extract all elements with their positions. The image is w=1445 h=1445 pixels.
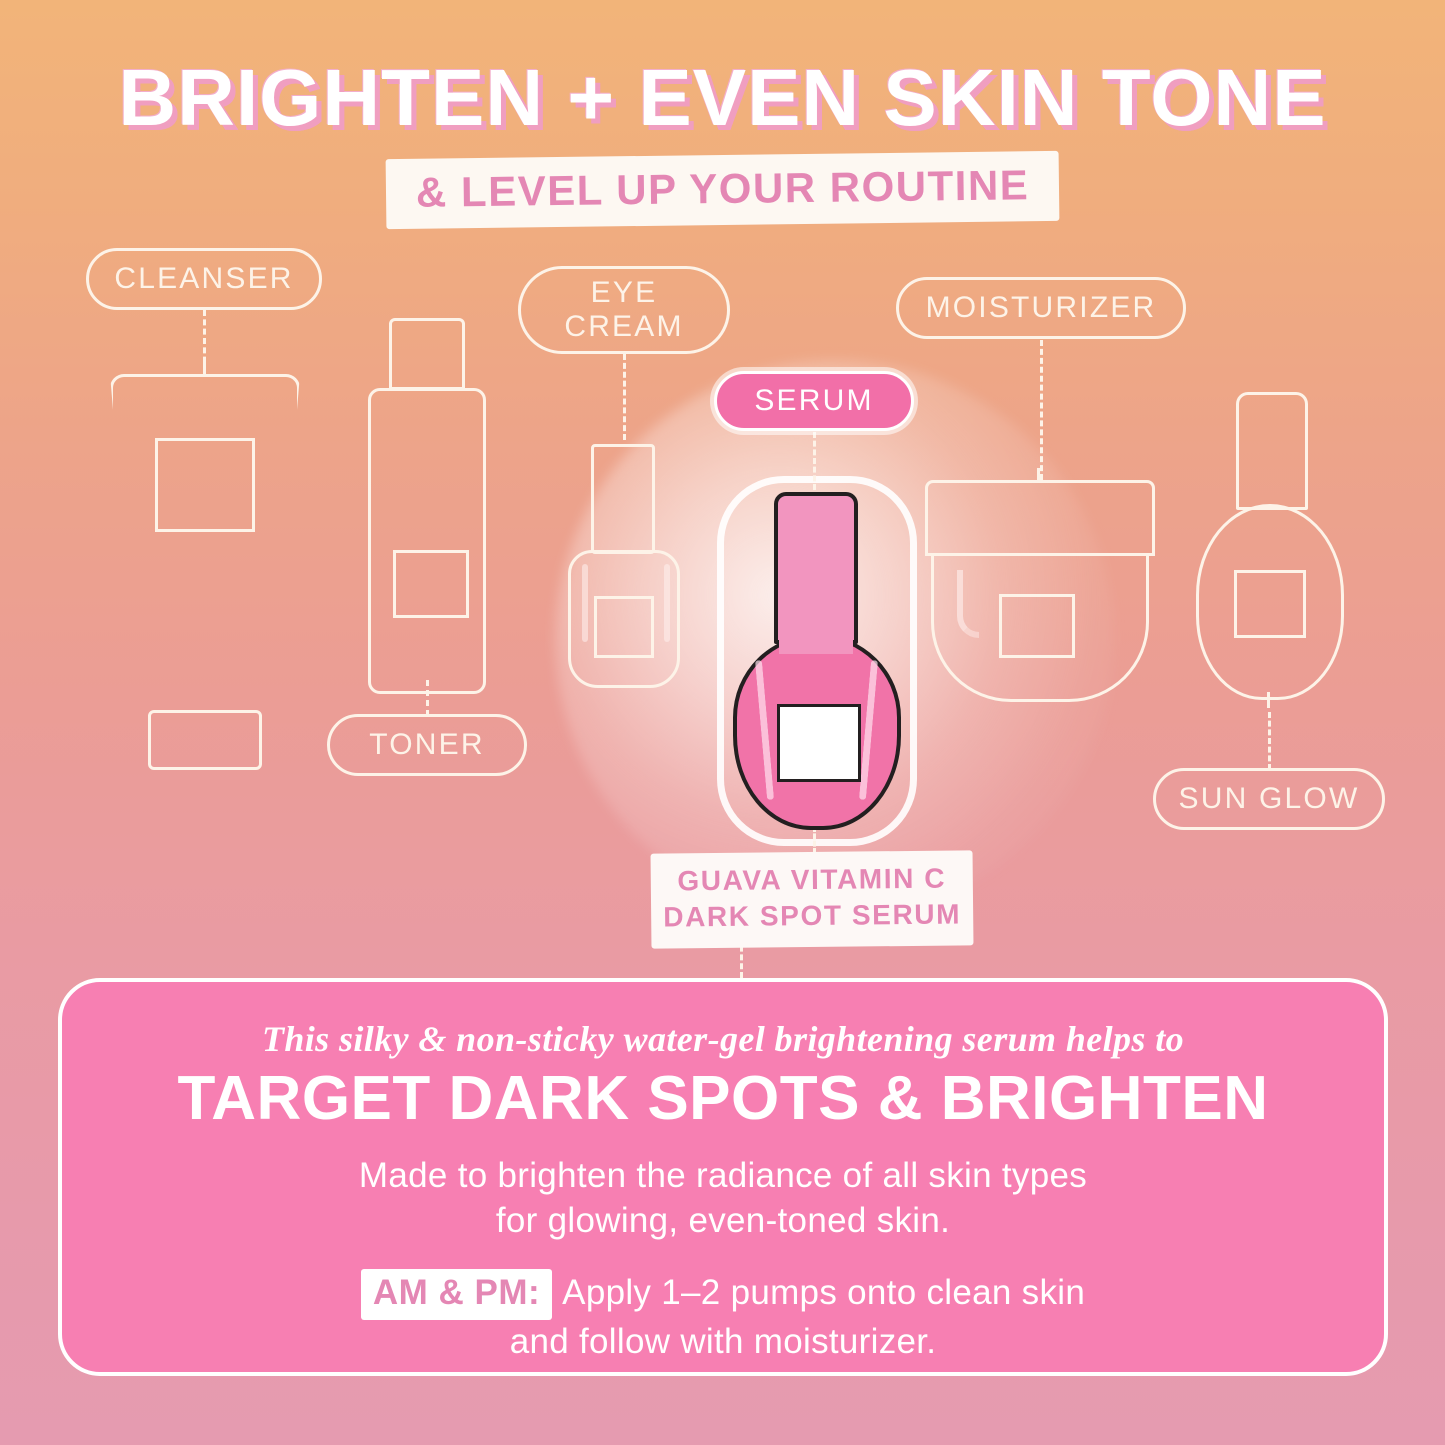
product-label-moisturizer[interactable]: MOISTURIZER [896,277,1186,339]
sun-glow-cap [1236,392,1308,510]
product-illustration-eye-cream [568,444,680,688]
eye-cream-shine-right [664,564,670,642]
product-label-eye-cream-line1: EYE [591,276,658,310]
card-tagline: This silky & non-sticky water-gel bright… [62,1018,1384,1060]
product-label-cleanser[interactable]: CLEANSER [86,248,322,310]
moisturizer-shine [957,570,979,638]
connector-hero-top [813,826,816,854]
eye-cream-shine-left [582,564,588,642]
toner-label-square [393,550,469,618]
product-illustration-cleanser [110,374,300,774]
connector-toner [426,680,429,716]
product-info-card: This silky & non-sticky water-gel bright… [58,978,1388,1376]
hero-product-name-line1: GUAVA VITAMIN C [659,860,965,900]
connector-serum [813,432,816,490]
product-label-eye-cream-line2: CREAM [564,310,683,344]
connector-eye-cream [623,354,626,440]
connector-sun-glow [1268,712,1271,770]
cleanser-cap [148,710,262,770]
card-description-line2: for glowing, even-toned skin. [62,1199,1384,1244]
sun-glow-label-square [1234,570,1306,638]
toner-body [368,388,486,694]
eye-cream-label-square [594,596,654,658]
cleanser-tube-body [110,374,300,714]
usage-time-tag: AM & PM: [361,1269,552,1320]
product-label-serum[interactable]: SERUM [714,371,914,431]
product-illustration-serum-hero [733,492,901,830]
subtitle-banner: & LEVEL UP YOUR ROUTINE [385,151,1059,229]
subtitle-container: & LEVEL UP YOUR ROUTINE [0,155,1445,225]
moisturizer-lid [925,480,1155,556]
connector-cleanser [203,310,206,372]
product-label-toner[interactable]: TONER [327,714,527,776]
hero-product-name-banner: GUAVA VITAMIN C DARK SPOT SERUM [651,850,974,948]
product-label-eye-cream[interactable]: EYE CREAM [518,266,730,354]
serum-bottle-cap [774,492,858,644]
product-illustration-moisturizer [925,480,1155,702]
connector-moisturizer [1040,340,1043,480]
moisturizer-label-square [999,594,1075,658]
toner-cap [389,318,465,390]
product-label-sun-glow[interactable]: SUN GLOW [1153,768,1385,830]
sun-glow-nub [1267,692,1270,708]
product-label-toner-text: TONER [369,728,484,762]
hero-product-name-line2: DARK SPOT SERUM [659,897,965,937]
product-label-sun-glow-text: SUN GLOW [1179,782,1360,816]
product-illustration-sun-glow [1196,392,1344,702]
cleanser-label-square [155,438,255,532]
serum-bottle-neck [779,632,853,654]
product-label-serum-text: SERUM [754,384,873,418]
card-heading: TARGET DARK SPOTS & BRIGHTEN [62,1066,1384,1132]
card-usage-line1-container: AM & PM:Apply 1–2 pumps onto clean skin [62,1269,1384,1320]
product-label-moisturizer-text: MOISTURIZER [926,291,1157,325]
serum-bottle-label [777,704,861,782]
product-illustration-toner [368,318,486,698]
card-usage-line1: Apply 1–2 pumps onto clean skin [562,1273,1085,1312]
card-description-line1: Made to brighten the radiance of all ski… [62,1154,1384,1199]
card-usage-line2: and follow with moisturizer. [62,1320,1384,1365]
eye-cream-cap [591,444,655,554]
product-label-cleanser-text: CLEANSER [114,262,293,296]
page-title: BRIGHTEN + EVEN SKIN TONE [0,52,1445,144]
